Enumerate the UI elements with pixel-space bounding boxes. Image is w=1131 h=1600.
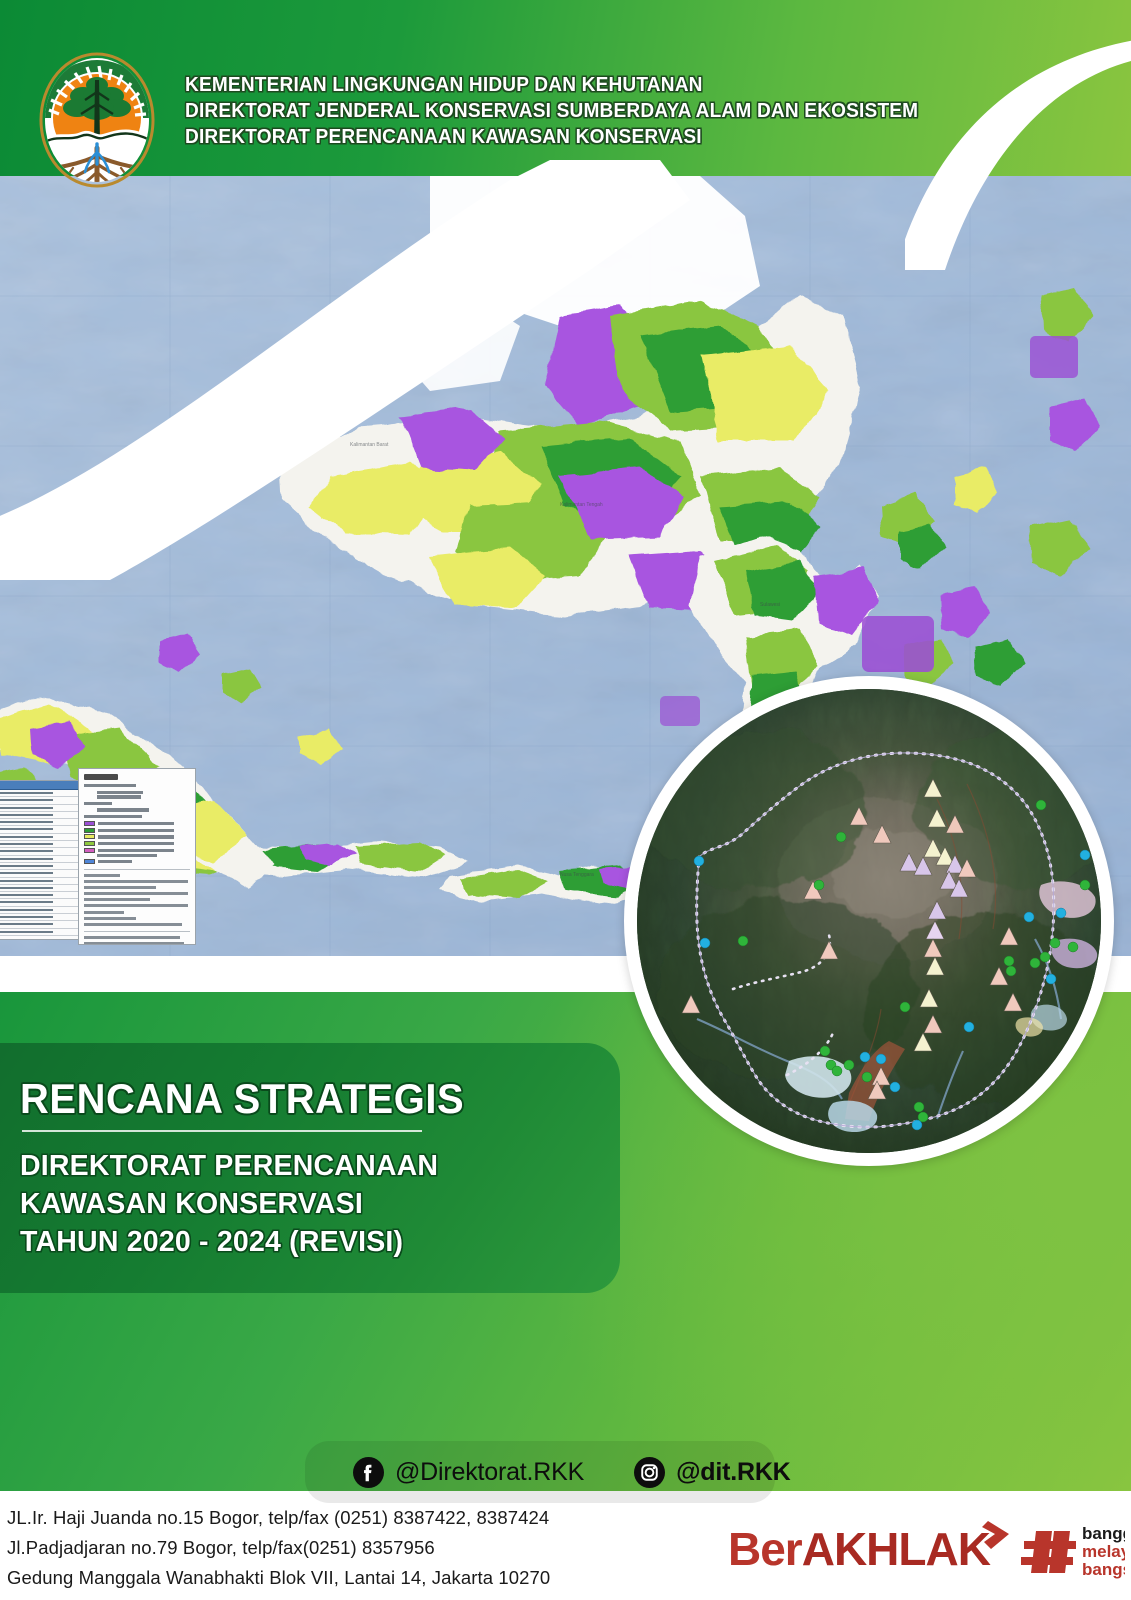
berakhlak-logo: BerAKHLAK bangga melayani bangsa: [720, 1503, 1125, 1589]
legend-hutan-konservasi: [84, 821, 190, 826]
legend-hutan-produksi-tetap: [84, 834, 190, 839]
svg-text:Sulawesi: Sulawesi: [760, 602, 780, 608]
address-line-2: Jl.Padjadjaran no.79 Bogor, telp/fax(025…: [7, 1533, 627, 1563]
instagram-icon: [634, 1457, 665, 1488]
berakhlak-tagline-1: bangga: [1082, 1524, 1125, 1543]
facebook-handle: @Direktorat.RKK: [395, 1458, 584, 1487]
svg-text:Kalimantan Tengah: Kalimantan Tengah: [560, 502, 603, 508]
subtitle-line-3: TAHUN 2020 - 2024 (REVISI): [20, 1224, 580, 1262]
cover-page: BRUNEI DARUSSALAM MALAYSIA Kalimantan Ba…: [0, 0, 1131, 1600]
instagram-handle: @dit.RKK: [676, 1458, 790, 1487]
map-legend: [78, 768, 196, 945]
berakhlak-hash-icon: [1021, 1531, 1076, 1573]
svg-text:BRUNEI: BRUNEI: [470, 207, 495, 214]
social-instagram[interactable]: @dit.RKK: [634, 1457, 790, 1488]
map-inset-table-header: [0, 781, 87, 790]
legend-hutan-produksi-konversi: [84, 848, 190, 853]
subtitle-line-1: DIREKTORAT PERENCANAAN: [20, 1148, 580, 1186]
title-panel: RENCANA STRATEGIS DIREKTORAT PERENCANAAN…: [0, 1043, 620, 1293]
legend-tubuh-air: [84, 859, 190, 864]
ministry-line-2: DIREKTORAT JENDERAL KONSERVASI SUMBERDAY…: [185, 98, 1003, 124]
subtitle-line-2: KAWASAN KONSERVASI: [20, 1186, 580, 1224]
svg-text:MALAYSIA: MALAYSIA: [452, 268, 486, 275]
map-inset-area-table: [0, 780, 88, 940]
ministry-titles: KEMENTERIAN LINGKUNGAN HIDUP DAN KEHUTAN…: [185, 72, 1065, 149]
ministry-line-3: DIREKTORAT PERENCANAAN KAWASAN KONSERVAS…: [185, 124, 1003, 150]
satellite-circle-inset: [624, 676, 1114, 1166]
address-line-3: Gedung Manggala Wanabhakti Blok VII, Lan…: [7, 1563, 627, 1593]
contact-address: JL.Ir. Haji Juanda no.15 Bogor, telp/fax…: [7, 1503, 627, 1600]
address-line-4: Email : dit.perencanaankkemenlhk.go.id: [7, 1593, 627, 1600]
svg-text:DARUSSALAM: DARUSSALAM: [470, 216, 516, 223]
ministry-line-1: KEMENTERIAN LINGKUNGAN HIDUP DAN KEHUTAN…: [185, 72, 1003, 98]
address-line-1: JL.Ir. Haji Juanda no.15 Bogor, telp/fax…: [7, 1503, 627, 1533]
page-subtitle: DIREKTORAT PERENCANAAN KAWASAN KONSERVAS…: [20, 1148, 580, 1262]
berakhlak-tagline-3: bangsa: [1082, 1560, 1125, 1579]
facebook-icon: [353, 1457, 384, 1488]
document-footer: JL.Ir. Haji Juanda no.15 Bogor, telp/fax…: [0, 1491, 1131, 1600]
berakhlak-tagline-2: melayani: [1082, 1542, 1125, 1561]
klhk-logo: [33, 52, 161, 188]
legend-hutan-lindung: [84, 828, 190, 833]
social-facebook[interactable]: @Direktorat.RKK: [353, 1457, 584, 1488]
page-title: RENCANA STRATEGIS: [20, 1075, 464, 1123]
svg-text:Kalimantan Barat: Kalimantan Barat: [350, 442, 389, 448]
document-header: KEMENTERIAN LINGKUNGAN HIDUP DAN KEHUTAN…: [0, 0, 1131, 176]
title-divider: [22, 1130, 422, 1132]
berakhlak-wordmark: BerAKHLAK: [728, 1523, 991, 1575]
map-legend-title: [84, 774, 118, 780]
svg-text:Nusa Tenggara: Nusa Tenggara: [560, 872, 594, 878]
social-media-bar: @Direktorat.RKK @dit.RKK: [305, 1441, 775, 1503]
legend-hutan-produksi-terbatas: [84, 841, 190, 846]
